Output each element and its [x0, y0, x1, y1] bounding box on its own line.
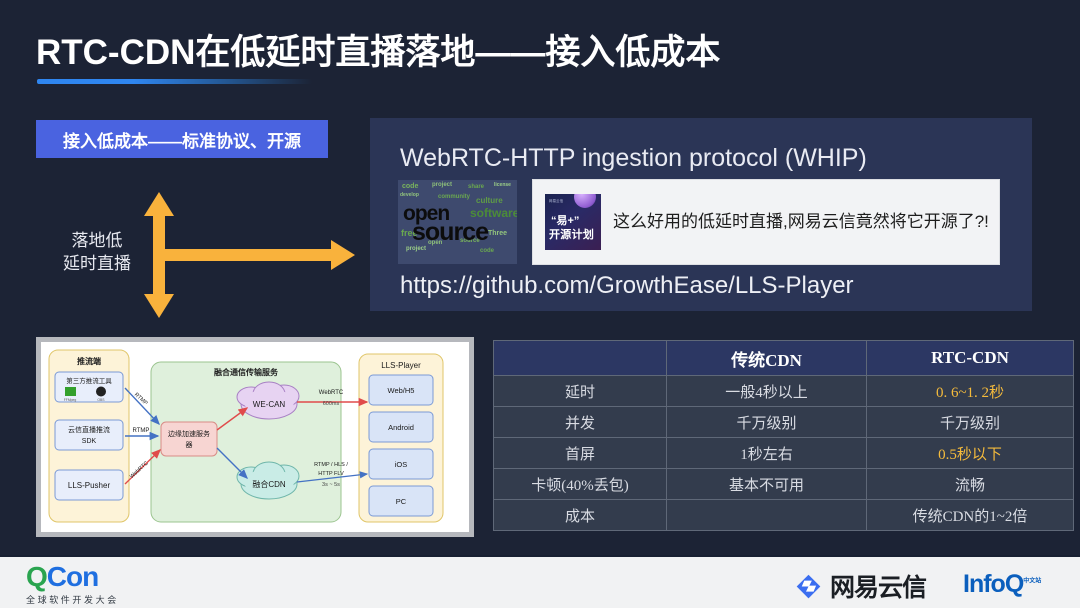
- title-underline: [37, 79, 312, 84]
- row-value-rtc: 传统CDN的1~2倍: [867, 500, 1074, 531]
- svg-text:器: 器: [186, 441, 193, 449]
- infoq-wordmark: InfoQ: [963, 570, 1023, 598]
- svg-text:LLS-Player: LLS-Player: [381, 361, 421, 370]
- svg-text:SDK: SDK: [82, 438, 97, 445]
- yunxin-wordmark: 网易云信: [830, 568, 926, 604]
- architecture-diagram: 推流端 第三方推流工具 FFMpeg OBS 云信直播推流 SDK LLS-Pu…: [36, 337, 474, 537]
- qcon-logo-q: Q: [26, 561, 47, 592]
- section-tag: 接入低成本——标准协议、开源: [36, 120, 328, 158]
- row-value-traditional: 1秒左右: [667, 438, 867, 469]
- svg-text:融合CDN: 融合CDN: [252, 479, 286, 489]
- left-annotation-line2: 延时直播: [42, 253, 152, 276]
- svg-text:云信直播推流: 云信直播推流: [68, 425, 110, 434]
- svg-text:OBS: OBS: [97, 398, 105, 402]
- infoq-logo: InfoQ中文站: [963, 570, 1041, 599]
- article-card[interactable]: 网易云信 “易+” 开源计划 这么好用的低延时直播,网易云信竟然将它开源了?!: [532, 179, 1000, 265]
- svg-text:600ms: 600ms: [323, 401, 340, 407]
- row-value-traditional: 千万级别: [667, 407, 867, 438]
- svg-text:WE-CAN: WE-CAN: [253, 400, 286, 409]
- row-value-rtc: 流畅: [867, 469, 1074, 500]
- row-value-traditional: 基本不可用: [667, 469, 867, 500]
- footer-bar: QCon 全球软件开发大会 网易云信 InfoQ中文站: [0, 555, 1080, 608]
- row-label: 并发: [494, 407, 667, 438]
- orange-arrows: [140, 190, 370, 320]
- svg-text:推流端: 推流端: [77, 356, 101, 366]
- table-row: 卡顿(40%丢包) 基本不可用 流畅: [494, 469, 1074, 500]
- table-header-row: 传统CDN RTC-CDN: [494, 341, 1074, 376]
- svg-text:FFMpeg: FFMpeg: [64, 398, 77, 402]
- svg-text:WebRTC: WebRTC: [319, 390, 344, 396]
- page-title: RTC-CDN在低延时直播落地——接入低成本: [36, 24, 720, 75]
- yunxin-logo: 网易云信: [795, 568, 926, 604]
- svg-text:WebRTC: WebRTC: [129, 461, 150, 480]
- left-annotation-line1: 落地低: [42, 230, 152, 253]
- yunxin-mark-icon: [795, 573, 822, 600]
- thumbnail-line2: 开源计划: [549, 226, 594, 242]
- svg-text:3s ~ 5s: 3s ~ 5s: [322, 482, 340, 488]
- architecture-diagram-canvas: 推流端 第三方推流工具 FFMpeg OBS 云信直播推流 SDK LLS-Pu…: [41, 342, 469, 532]
- svg-text:边缘加速服务: 边缘加速服务: [168, 429, 210, 438]
- comparison-table: 传统CDN RTC-CDN 延时 一般4秒以上 0. 6~1. 2秒 并发 千万…: [493, 340, 1074, 531]
- open-source-wordcloud-image: code project share license develop commu…: [398, 180, 517, 264]
- qcon-logo-con: Con: [47, 561, 98, 592]
- table-row: 成本 传统CDN的1~2倍: [494, 500, 1074, 531]
- architecture-svg: 推流端 第三方推流工具 FFMpeg OBS 云信直播推流 SDK LLS-Pu…: [41, 342, 469, 532]
- row-value-traditional: 一般4秒以上: [667, 376, 867, 407]
- table-row: 首屏 1秒左右 0.5秒以下: [494, 438, 1074, 469]
- svg-text:HTTP FLV: HTTP FLV: [318, 471, 344, 477]
- article-headline: 这么好用的低延时直播,网易云信竟然将它开源了?!: [613, 210, 989, 235]
- svg-text:iOS: iOS: [395, 460, 408, 469]
- row-value-rtc: 0.5秒以下: [867, 438, 1074, 469]
- table-row: 并发 千万级别 千万级别: [494, 407, 1074, 438]
- row-label: 卡顿(40%丢包): [494, 469, 667, 500]
- svg-text:融合通信传输服务: 融合通信传输服务: [214, 367, 279, 377]
- slide-root: RTC-CDN在低延时直播落地——接入低成本 接入低成本——标准协议、开源 落地…: [0, 0, 1080, 608]
- thumbnail-blob: [574, 194, 596, 208]
- table-header-traditional-cdn: 传统CDN: [667, 341, 867, 376]
- row-label: 延时: [494, 376, 667, 407]
- row-value-rtc: 0. 6~1. 2秒: [867, 376, 1074, 407]
- wordcloud-word-source: source: [412, 218, 488, 247]
- whip-title: WebRTC-HTTP ingestion protocol (WHIP): [400, 144, 867, 173]
- qcon-logo: QCon 全球软件开发大会: [26, 563, 119, 606]
- row-label: 成本: [494, 500, 667, 531]
- infoq-subtitle: 中文站: [1023, 579, 1041, 585]
- thumbnail-brand: 网易云信: [549, 198, 563, 203]
- svg-text:RTMP / HLS /: RTMP / HLS /: [314, 462, 348, 468]
- svg-text:Android: Android: [388, 423, 414, 432]
- table-row: 延时 一般4秒以上 0. 6~1. 2秒: [494, 376, 1074, 407]
- table-header-blank: [494, 341, 667, 376]
- qcon-wordmark: QCon: [26, 563, 119, 591]
- left-annotation: 落地低 延时直播: [42, 230, 152, 276]
- svg-text:PC: PC: [396, 497, 407, 506]
- qcon-subtitle: 全球软件开发大会: [26, 593, 119, 606]
- row-value-rtc: 千万级别: [867, 407, 1074, 438]
- row-value-traditional: [667, 500, 867, 531]
- row-label: 首屏: [494, 438, 667, 469]
- section-tag-label: 接入低成本——标准协议、开源: [63, 127, 301, 152]
- svg-text:RTMP: RTMP: [133, 428, 150, 434]
- svg-text:第三方推流工具: 第三方推流工具: [66, 376, 112, 385]
- article-thumbnail: 网易云信 “易+” 开源计划: [545, 194, 601, 250]
- whip-panel: WebRTC-HTTP ingestion protocol (WHIP) co…: [370, 118, 1032, 311]
- svg-text:Web/H5: Web/H5: [388, 386, 415, 395]
- table-header-rtc-cdn: RTC-CDN: [867, 341, 1074, 376]
- svg-text:LLS-Pusher: LLS-Pusher: [68, 481, 111, 490]
- github-url[interactable]: https://github.com/GrowthEase/LLS-Player: [400, 272, 854, 300]
